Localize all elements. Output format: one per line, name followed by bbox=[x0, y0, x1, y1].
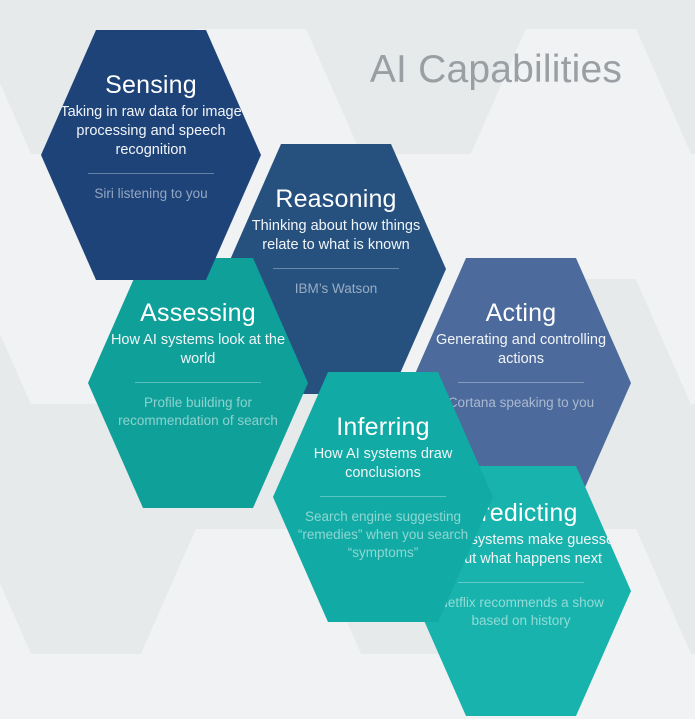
hex-example-acting: Cortana speaking to you bbox=[448, 394, 594, 412]
divider bbox=[458, 382, 584, 383]
hex-description-acting: Generating and controlling actions bbox=[425, 331, 617, 370]
hex-example-sensing: Siri listening to you bbox=[94, 185, 207, 203]
hex-title-inferring: Inferring bbox=[336, 414, 430, 442]
divider bbox=[458, 582, 584, 583]
hex-title-reasoning: Reasoning bbox=[275, 186, 396, 214]
hex-title-assessing: Assessing bbox=[140, 300, 256, 328]
divider bbox=[135, 382, 261, 383]
hex-title-sensing: Sensing bbox=[105, 72, 197, 100]
hex-description-inferring: How AI systems draw conclusions bbox=[287, 445, 479, 484]
divider bbox=[320, 496, 446, 497]
page-title: AI Capabilities bbox=[336, 48, 656, 92]
hex-title-acting: Acting bbox=[486, 300, 557, 328]
hex-example-inferring: Search engine suggesting “remedies” when… bbox=[287, 508, 479, 562]
hex-example-reasoning: IBM’s Watson bbox=[295, 280, 378, 298]
divider bbox=[88, 173, 214, 174]
hex-example-predicting: Netflix recommends a show based on histo… bbox=[419, 594, 623, 630]
hex-description-assessing: How AI systems look at the world bbox=[102, 331, 294, 370]
divider bbox=[273, 268, 399, 269]
hex-description-sensing: Taking in raw data for image processing … bbox=[55, 103, 247, 161]
hex-description-reasoning: Thinking about how things relate to what… bbox=[240, 217, 432, 256]
hex-example-assessing: Profile building for recommendation of s… bbox=[102, 394, 294, 430]
infographic-canvas: AI Capabilities Sensing Taking in raw da… bbox=[0, 0, 695, 719]
